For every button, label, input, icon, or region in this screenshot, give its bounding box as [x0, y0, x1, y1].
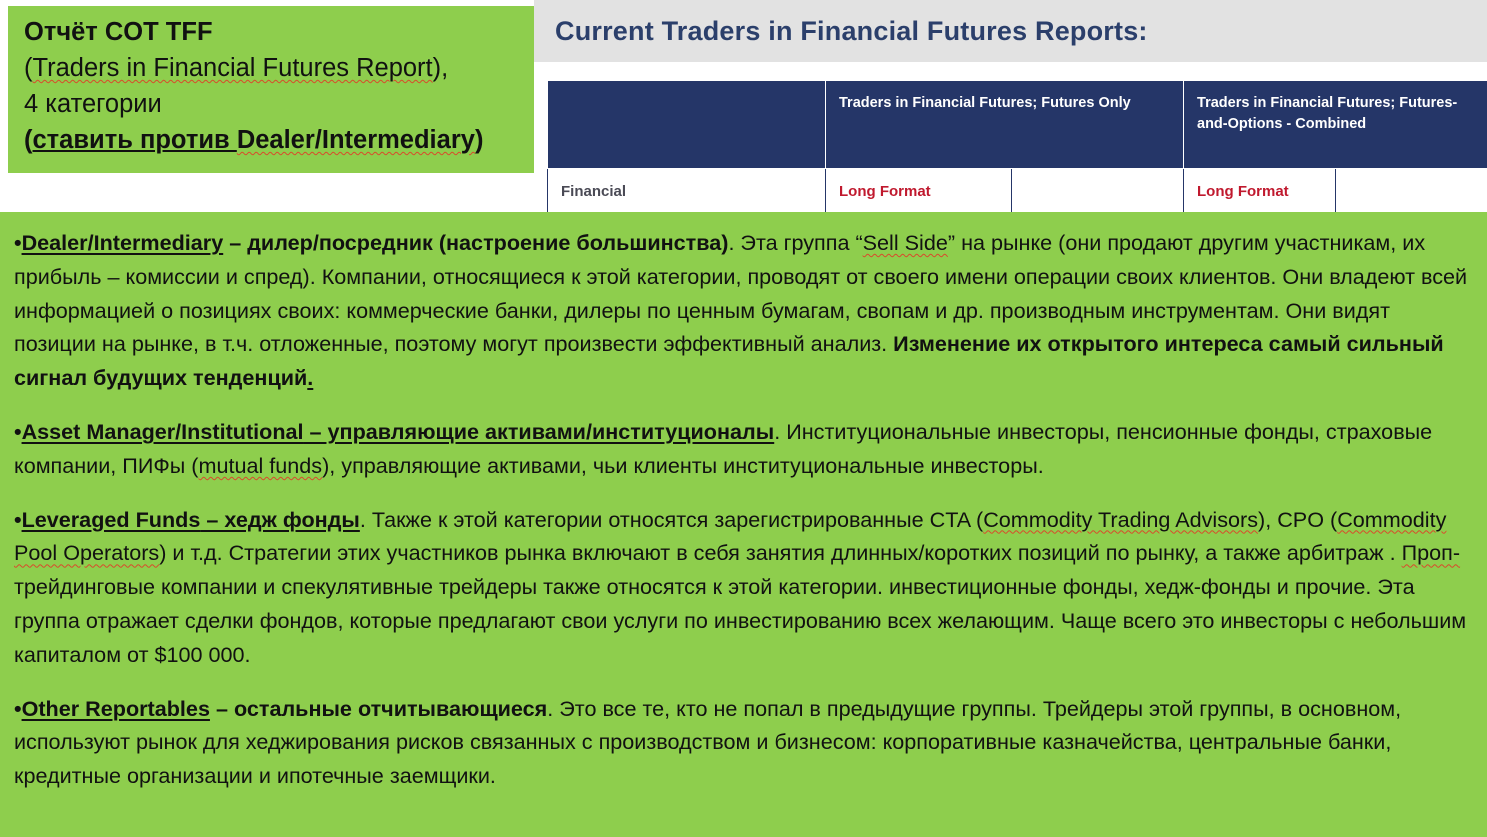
cftc-report-panel: Current Traders in Financial Futures Rep…: [534, 0, 1487, 220]
header-cell-futures-only: Traders in Financial Futures; Futures On…: [826, 81, 1184, 169]
quoted-term-prop: Проп-: [1402, 540, 1460, 565]
paragraph-text-a: . Также к этой категории относятся зарег…: [360, 507, 983, 532]
cftc-reports-table: Traders in Financial Futures; Futures On…: [547, 80, 1487, 220]
header-cell-futures-and-options: Traders in Financial Futures; Futures-an…: [1184, 81, 1487, 169]
categories-description-box: •Dealer/Intermediary – дилер/посредник (…: [0, 212, 1487, 837]
title-paren-open: (: [24, 54, 33, 82]
bullet-marker: •: [14, 230, 22, 255]
lead-label-ru: – дилер/посредник (настроение большинств…: [223, 230, 728, 255]
quoted-term-sell-side: Sell Side: [863, 230, 948, 255]
lead-label-ru: – управляющие активами/институционалы: [304, 419, 775, 444]
bullet-marker: •: [14, 696, 22, 721]
paragraph-text-c: ) и т.д. Стратегии этих участников рынка…: [159, 540, 1401, 565]
paragraph-text-a: . Эта группа “: [728, 230, 862, 255]
title4-ru: ставить против: [33, 126, 237, 154]
title4-paren-close: ): [475, 126, 484, 154]
paragraph-leveraged-funds: •Leveraged Funds – хедж фонды. Также к э…: [14, 503, 1477, 672]
lead-label-en: Dealer/Intermediary: [22, 230, 224, 255]
table-header-row: Traders in Financial Futures; Futures On…: [548, 81, 1487, 169]
paragraph-text-d: трейдинговые компании и спекулятивные тр…: [14, 574, 1466, 667]
lead-label-en: Other Reportables: [22, 696, 210, 721]
paragraph-asset-manager: •Asset Manager/Institutional – управляющ…: [14, 415, 1477, 483]
bullet-marker: •: [14, 419, 22, 444]
quoted-term-cta: Commodity Trading Advisors: [983, 507, 1258, 532]
title-line-4: (ставить против Dealer/Intermediary): [24, 122, 534, 158]
lead-label-ru: – хедж фонды: [200, 507, 360, 532]
quoted-term-mutual-funds: mutual funds: [198, 453, 322, 478]
paragraph-dealer-intermediary: •Dealer/Intermediary – дилер/посредник (…: [14, 226, 1477, 395]
title4-en: Dealer/Intermediary: [237, 126, 475, 154]
cftc-heading: Current Traders in Financial Futures Rep…: [555, 16, 1148, 47]
title-callout-box: Отчёт COT TFF (Traders in Financial Futu…: [8, 6, 534, 173]
paragraph-text-b: ), управляющие активами, чьи клиенты инс…: [322, 453, 1044, 478]
lead-label-en: Leveraged Funds: [22, 507, 201, 532]
bullet-marker: •: [14, 507, 22, 532]
title-paren-close: ),: [433, 54, 449, 82]
emphasis-tail-period: .: [307, 365, 313, 390]
title-line-2: (Traders in Financial Futures Report),: [24, 50, 534, 86]
paragraph-other-reportables: •Other Reportables – остальные отчитываю…: [14, 692, 1477, 793]
lead-label-ru: – остальные отчитывающиеся: [210, 696, 547, 721]
title-line-3: 4 категории: [24, 86, 534, 122]
lead-label-en: Asset Manager/Institutional: [22, 419, 304, 444]
header-cell-empty: [548, 81, 826, 169]
title-line-1: Отчёт COT TFF: [24, 14, 534, 50]
paragraph-text-b: ), CPO (: [1258, 507, 1337, 532]
title4-paren-open: (: [24, 126, 33, 154]
title-report-name-en: Traders in Financial Futures Report: [33, 54, 433, 82]
